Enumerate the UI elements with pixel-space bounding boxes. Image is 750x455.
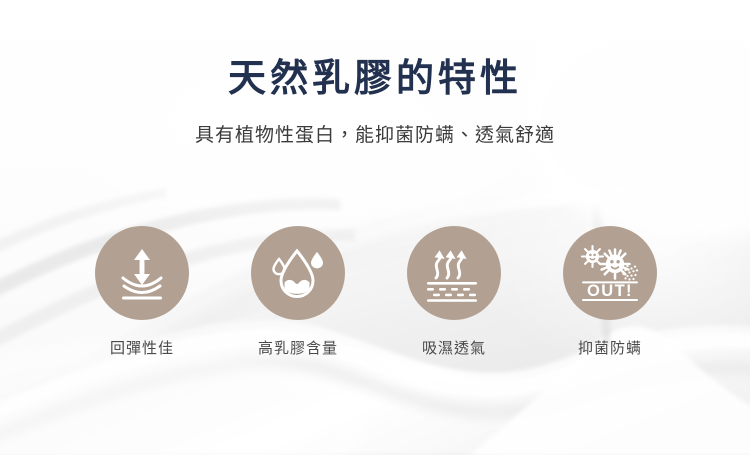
feature-item-latex-content[interactable]: 高乳膠含量 bbox=[228, 226, 368, 358]
feature-item-breathability[interactable]: 吸濕透氣 bbox=[384, 226, 524, 358]
page-subtitle: 具有植物性蛋白，能抑菌防螨、透氣舒適 bbox=[0, 124, 750, 149]
feature-label-latex-content: 高乳膠含量 bbox=[228, 337, 368, 358]
feature-badge-antibacterial[interactable]: OUT! bbox=[563, 226, 657, 320]
feature-badge-latex-content[interactable] bbox=[251, 226, 345, 320]
feature-item-resilience[interactable]: 回彈性佳 bbox=[72, 226, 212, 358]
resilience-arrow-icon bbox=[114, 245, 170, 301]
out-text: OUT! bbox=[587, 282, 633, 300]
feature-badge-resilience[interactable] bbox=[95, 226, 189, 320]
water-droplet-icon bbox=[269, 244, 327, 302]
breathability-airflow-icon bbox=[425, 245, 483, 301]
latex-feature-banner: 天然乳膠的特性 具有植物性蛋白，能抑菌防螨、透氣舒適 bbox=[0, 0, 750, 455]
heading-block: 天然乳膠的特性 具有植物性蛋白，能抑菌防螨、透氣舒適 bbox=[0, 58, 750, 148]
feature-label-antibacterial: 抑菌防螨 bbox=[540, 337, 680, 358]
page-title: 天然乳膠的特性 bbox=[0, 58, 750, 102]
feature-badge-breathability[interactable] bbox=[407, 226, 501, 320]
feature-label-breathability: 吸濕透氣 bbox=[384, 337, 524, 358]
feature-label-resilience: 回彈性佳 bbox=[72, 337, 212, 358]
feature-list: 回彈性佳 高乳膠含量 bbox=[72, 226, 680, 358]
feature-item-antibacterial[interactable]: OUT! 抑菌防螨 bbox=[540, 226, 680, 358]
antibacterial-out-icon: OUT! bbox=[578, 244, 642, 302]
